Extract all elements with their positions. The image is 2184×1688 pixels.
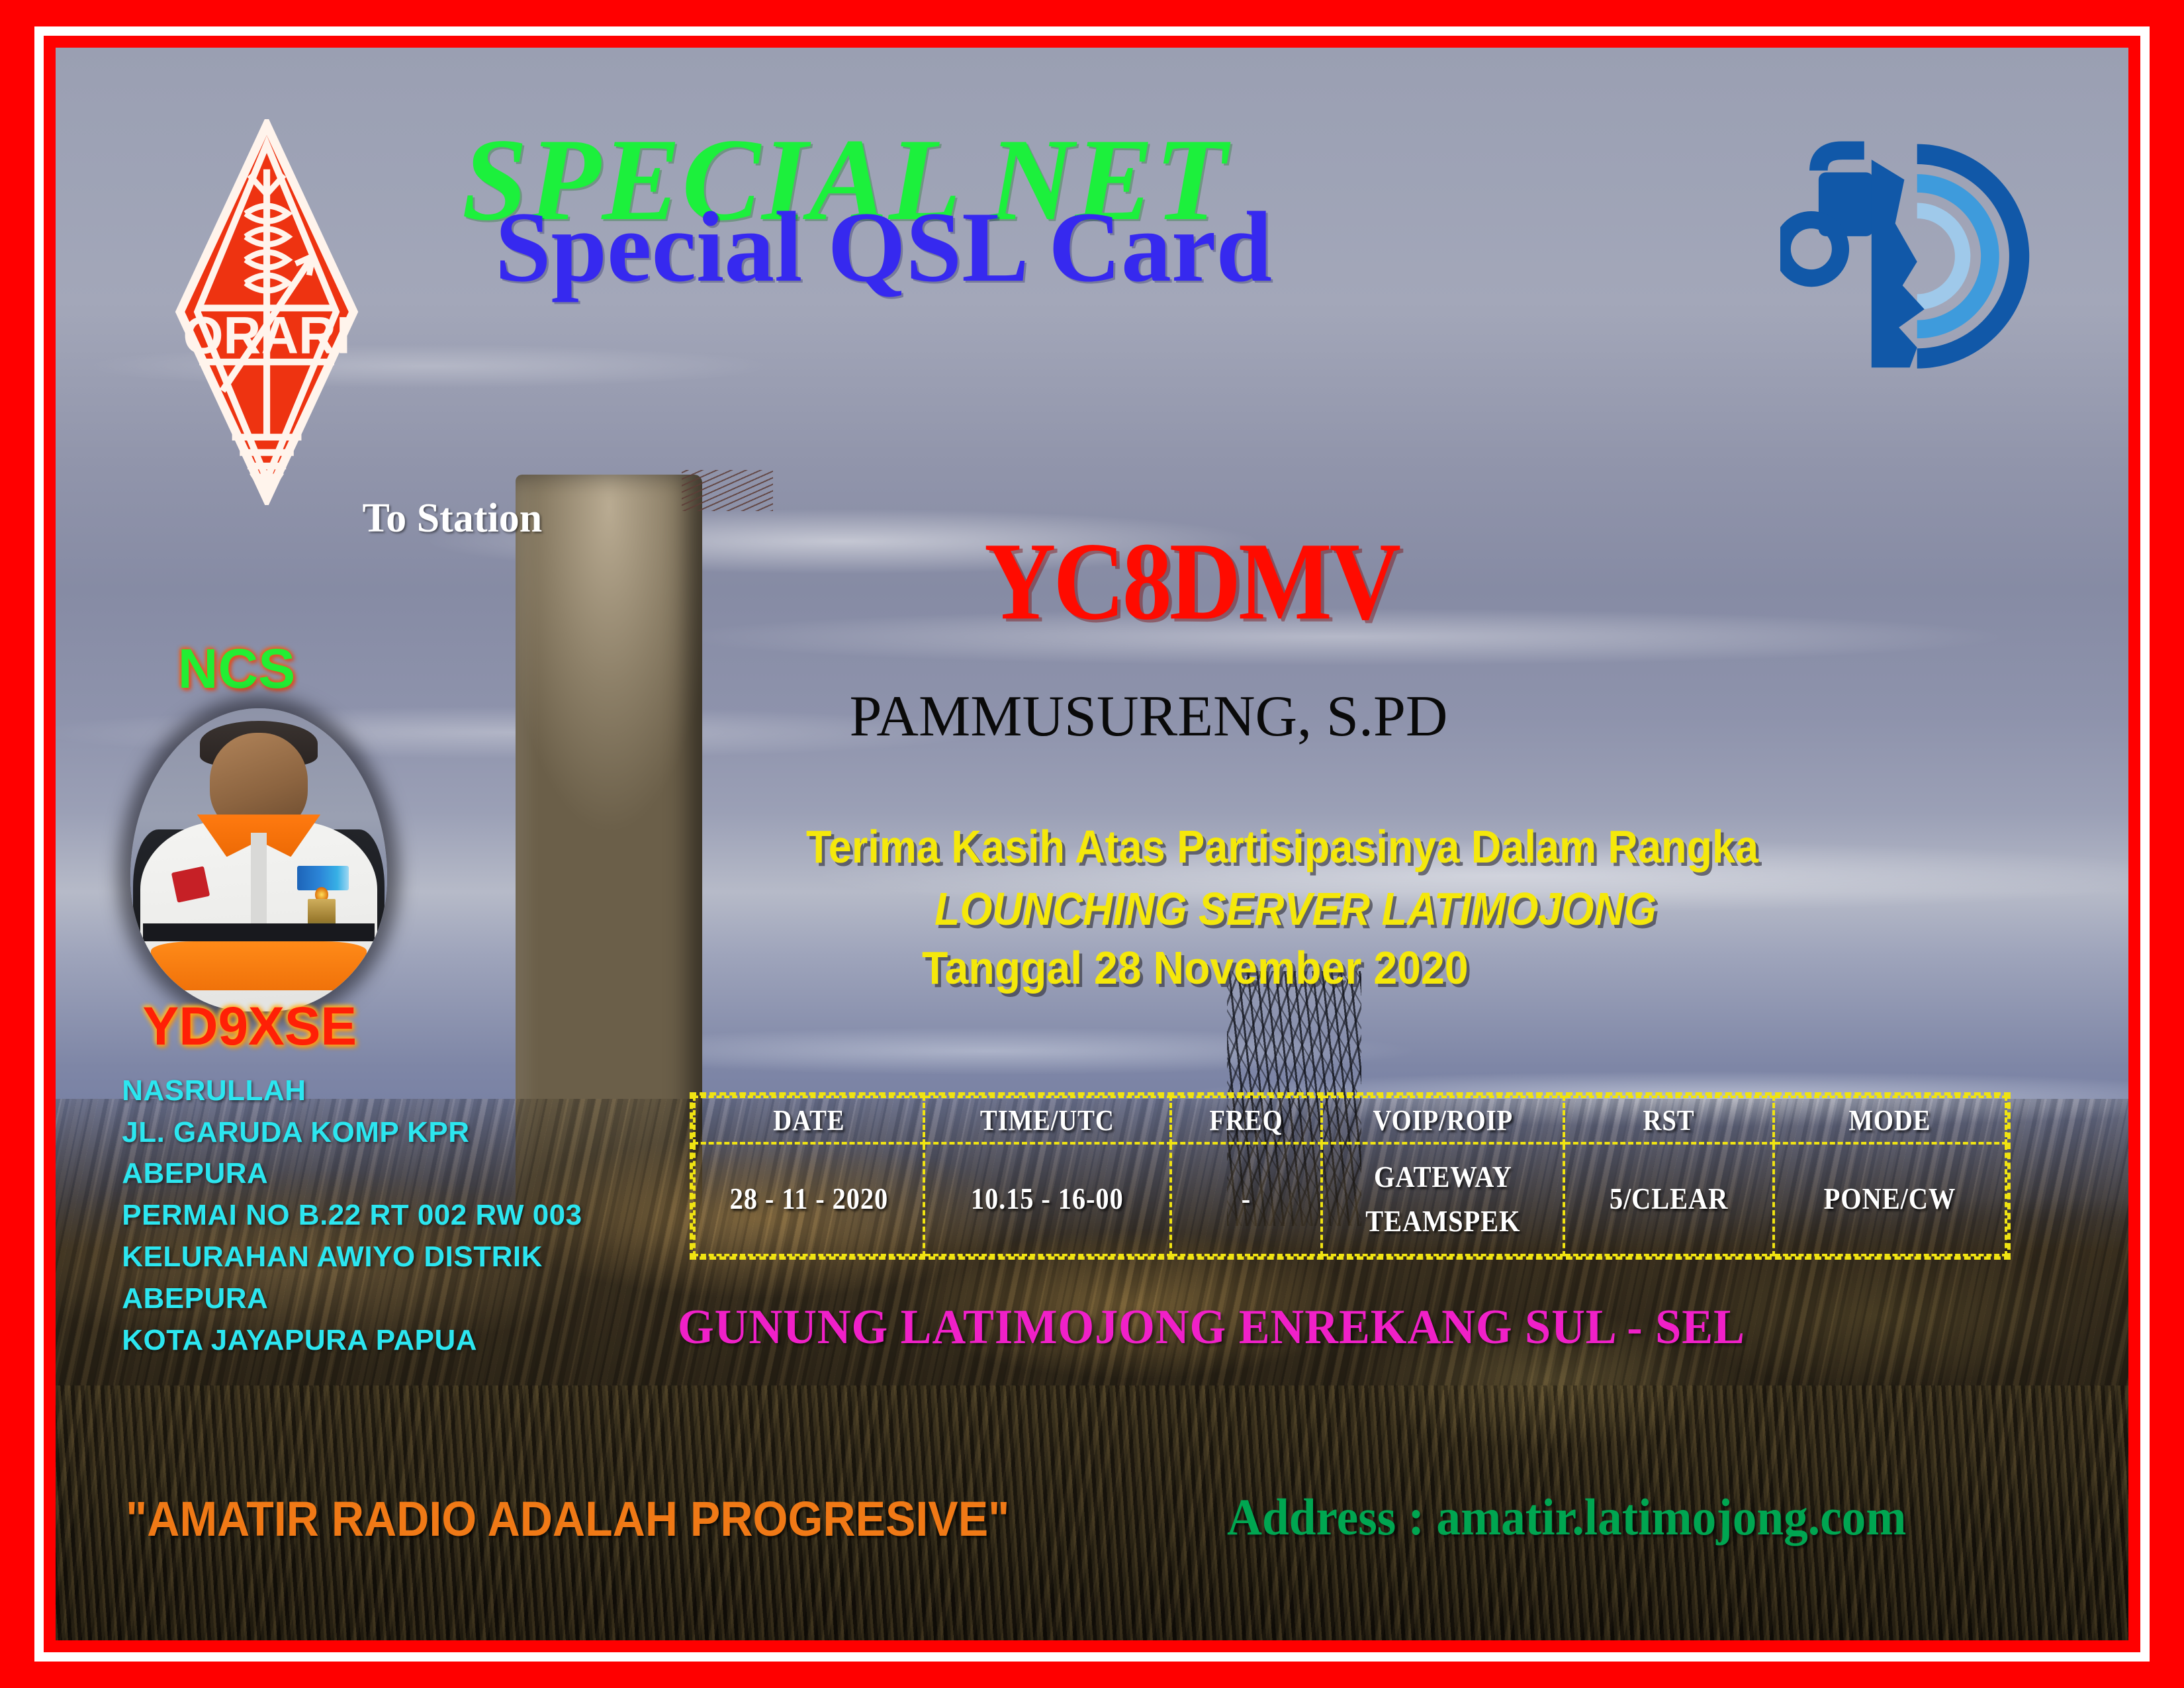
net-logo [1780, 121, 2054, 395]
to-station-label: To Station [363, 495, 543, 542]
operator-name: PAMMUSURENG, S.PD [850, 683, 1448, 750]
column-header-rst: RST [1576, 1097, 1761, 1143]
event-thanks-line: Terima Kasih Atas Partisipasinya Dalam R… [806, 820, 1758, 873]
table-header-row: DATE TIME/UTC FREQ VOIP/ROIP RST MODE [694, 1097, 2006, 1143]
address-line: KOTA JAYAPURA PAPUA [122, 1320, 582, 1362]
address-line: ABEPURA [122, 1153, 582, 1195]
cell-mode: PONE/CW [1788, 1143, 1992, 1256]
station-callsign: YC8DMV [984, 518, 1398, 645]
orari-logo: ORARI [140, 119, 393, 504]
cell-rst: 5/CLEAR [1576, 1143, 1761, 1256]
page-subtitle: Special QSL Card [495, 189, 1272, 305]
cell-freq: - [1179, 1143, 1312, 1256]
card-frame-inner-red: ORARI [44, 36, 2140, 1652]
cell-voip-roip: GATEWAY TEAMSPEK [1336, 1143, 1550, 1256]
location-label: GUNUNG LATIMOJONG ENREKANG SUL - SEL [678, 1299, 1745, 1356]
address-line: ABEPURA [122, 1278, 582, 1320]
portrait-belt [143, 923, 375, 941]
column-header-mode: MODE [1788, 1097, 1992, 1143]
column-header-freq: FREQ [1179, 1097, 1312, 1143]
mailing-address: NASRULLAH JL. GARUDA KOMP KPR ABEPURA PE… [122, 1070, 582, 1362]
cell-date: 28 - 11 - 2020 [708, 1143, 910, 1256]
column-header-date: DATE [708, 1097, 910, 1143]
footer-slogan: "AMATIR RADIO ADALAH PROGRESIVE" [126, 1491, 1009, 1547]
card-frame-white: ORARI [34, 26, 2150, 1662]
card-background-photo: ORARI [56, 48, 2128, 1640]
address-line: PERMAI NO B.22 RT 002 RW 003 [122, 1195, 582, 1237]
column-header-time: TIME/UTC [939, 1097, 1156, 1143]
cell-time: 10.15 - 16-00 [939, 1143, 1156, 1256]
event-title-line: LOUNCHING SERVER LATIMOJONG [934, 882, 1657, 935]
twig-detail [682, 470, 773, 512]
column-header-voip-roip: VOIP/ROIP [1336, 1097, 1550, 1143]
orari-logo-text: ORARI [183, 306, 351, 365]
cell-voip-roip-line1: GATEWAY [1338, 1155, 1547, 1199]
address-line: KELURAHAN AWIYO DISTRIK [122, 1237, 582, 1278]
address-line: JL. GARUDA KOMP KPR [122, 1112, 582, 1154]
ncs-label: NCS [178, 637, 295, 701]
footer-web-address: Address : amatir.latimojong.com [1227, 1487, 1906, 1547]
portrait-sash [151, 941, 367, 990]
qsl-card: ORARI [0, 0, 2184, 1688]
address-line: NASRULLAH [122, 1070, 582, 1112]
qso-log-table: DATE TIME/UTC FREQ VOIP/ROIP RST MODE 28… [690, 1092, 2011, 1260]
event-date-line: Tanggal 28 November 2020 [922, 941, 1469, 994]
ncs-callsign: YD9XSE [143, 996, 357, 1058]
table-row: 28 - 11 - 2020 10.15 - 16-00 - GATEWAY T… [694, 1143, 2006, 1256]
cell-voip-roip-line2: TEAMSPEK [1338, 1199, 1547, 1244]
